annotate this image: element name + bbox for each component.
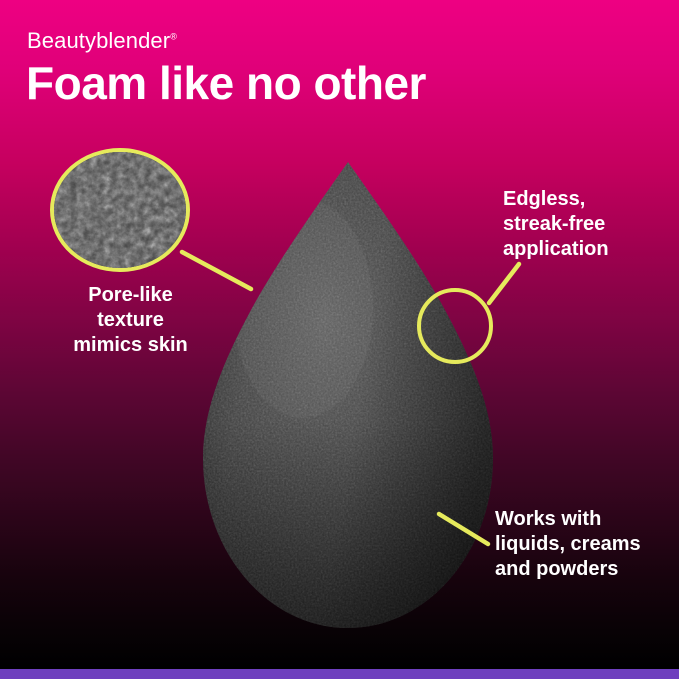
magnified-foam-texture <box>50 148 190 272</box>
brand-name: Beautyblender <box>27 28 170 53</box>
brand-wordmark: Beautyblender® <box>27 28 177 54</box>
callout-edgeless-application: Edgless, streak-free application <box>503 187 673 262</box>
callout-line: liquids, creams <box>495 532 675 557</box>
callout-works-with: Works with liquids, creams and powders <box>495 507 675 582</box>
edge-detail-ring <box>417 288 493 364</box>
bottom-color-band <box>0 669 679 679</box>
page-title: Foam like no other <box>26 57 426 109</box>
callout-line: application <box>503 237 673 262</box>
callout-line: Works with <box>495 507 675 532</box>
sponge-shape <box>183 158 513 636</box>
infographic-canvas: Beautyblender® Foam like no other Pore-l… <box>0 0 679 679</box>
callout-line: and powders <box>495 557 675 582</box>
trademark-symbol: ® <box>170 32 177 42</box>
callout-line: Edgless, <box>503 187 673 212</box>
pore-texture-magnifier <box>50 148 190 272</box>
callout-pore-texture: Pore-like texture mimics skin <box>28 283 233 358</box>
callout-line: streak-free <box>503 212 673 237</box>
callout-line: texture <box>28 308 233 333</box>
callout-line: Pore-like <box>28 283 233 308</box>
callout-line: mimics skin <box>28 333 233 358</box>
product-image <box>183 158 513 636</box>
